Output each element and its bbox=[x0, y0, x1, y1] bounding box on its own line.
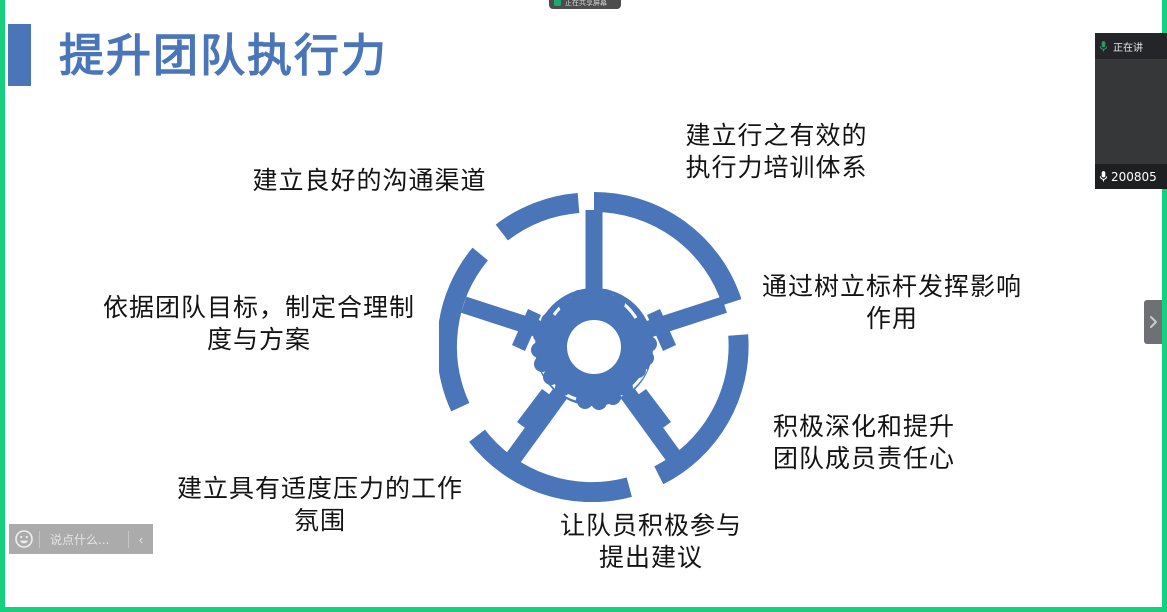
video-feed-area bbox=[1095, 60, 1167, 164]
sharing-status-label: 正在共享屏幕 bbox=[565, 0, 607, 8]
screen-share-border-bottom bbox=[0, 607, 1167, 612]
callout-label-pressure: 建立具有适度压力的工作 氛围 bbox=[157, 473, 483, 536]
chevron-right-icon bbox=[1149, 315, 1158, 329]
emoji-picker-button[interactable] bbox=[9, 524, 39, 554]
chat-input-bar[interactable]: 说点什么... ‹ bbox=[9, 524, 153, 554]
video-panel-topbar: 正在讲 bbox=[1095, 33, 1167, 60]
callout-label-benchmark: 通过树立标杆发挥影响 作用 bbox=[747, 271, 1037, 334]
callout-label-responsible: 积极深化和提升 团队成员责任心 bbox=[758, 411, 970, 474]
collapse-chat-button[interactable]: ‹ bbox=[129, 524, 153, 554]
slide-title-row: 提升团队执行力 bbox=[8, 24, 388, 86]
microphone-icon bbox=[1099, 170, 1108, 183]
callout-label-training: 建立行之有效的 执行力培训体系 bbox=[669, 120, 884, 183]
sharing-indicator-icon bbox=[554, 0, 561, 6]
video-status-label: 正在讲 bbox=[1113, 39, 1143, 54]
title-accent-block bbox=[8, 24, 31, 86]
screen-share-status-pill[interactable]: 正在共享屏幕 bbox=[549, 0, 621, 9]
callout-label-goals: 依据团队目标，制定合理制 度与方案 bbox=[80, 292, 438, 355]
callout-label-participate: 让队员积极参与 提出建议 bbox=[545, 510, 757, 573]
screen-share-border-left bbox=[0, 0, 5, 612]
participant-video-panel[interactable]: 正在讲 200805 bbox=[1095, 33, 1167, 189]
page-title: 提升团队执行力 bbox=[59, 33, 388, 78]
expand-panel-tab[interactable] bbox=[1144, 300, 1162, 344]
microphone-icon bbox=[1099, 40, 1108, 53]
presentation-slide: 提升团队执行力 bbox=[5, 0, 1162, 607]
participant-name-label: 200805 bbox=[1111, 170, 1157, 184]
video-panel-footer: 200805 bbox=[1095, 164, 1167, 189]
chat-message-input[interactable]: 说点什么... bbox=[40, 531, 128, 548]
teamwork-wheel-graphic bbox=[439, 192, 749, 502]
callout-label-communicate: 建立良好的沟通渠道 bbox=[237, 165, 502, 197]
smiley-icon bbox=[15, 530, 33, 548]
